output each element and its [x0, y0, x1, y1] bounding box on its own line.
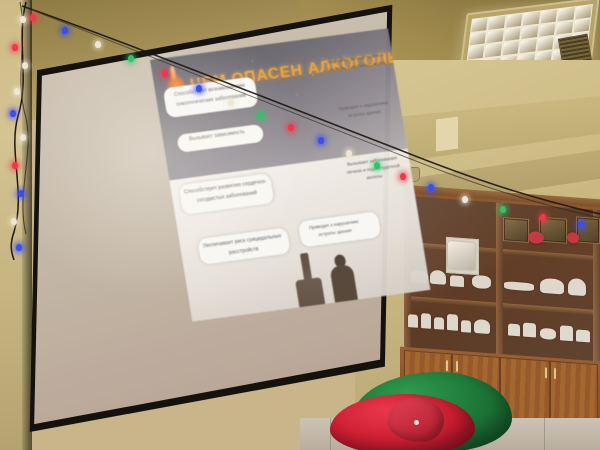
louver-cell — [487, 30, 504, 44]
string-light-bulb — [30, 14, 36, 21]
string-light-bulb — [10, 110, 16, 117]
louver-cell — [573, 19, 590, 33]
serving-bowl — [540, 278, 564, 295]
louver-cell — [471, 18, 488, 32]
string-light-bulb — [346, 150, 352, 157]
porcelain-cup — [450, 275, 464, 287]
string-light-bulb — [400, 173, 406, 180]
louver-cell — [523, 11, 540, 25]
string-light-bulb — [462, 196, 468, 203]
teapot — [430, 270, 446, 285]
string-light-bulb — [258, 112, 264, 119]
porcelain-cup — [434, 317, 444, 330]
louver-cell — [502, 41, 519, 55]
porcelain-cup — [447, 314, 458, 331]
string-light-bulb — [12, 44, 18, 51]
string-light-bulb — [162, 70, 168, 77]
louver-cell — [470, 32, 487, 46]
string-light-bulb — [374, 162, 380, 169]
string-light-bulb — [128, 55, 134, 62]
string-light-bulb — [22, 62, 28, 69]
string-light-bulb — [428, 184, 434, 191]
porcelain-cup — [421, 313, 431, 329]
string-light-bulb — [288, 124, 294, 131]
porcelain-cup — [408, 314, 418, 328]
louver-cell — [558, 7, 575, 21]
string-light-bulb — [18, 190, 24, 197]
louver-cell — [489, 16, 506, 30]
louver-cell — [506, 14, 523, 28]
porcelain-cup — [508, 323, 520, 336]
porcelain-cup — [461, 320, 471, 333]
bean-bag-tag — [414, 420, 419, 425]
red-ornament — [567, 232, 579, 244]
string-light-bulb — [62, 27, 68, 34]
porcelain-bowl — [540, 328, 556, 340]
string-light-bulb — [20, 134, 26, 141]
string-light-bulb — [95, 41, 101, 48]
louver-cell — [540, 9, 557, 23]
cabinet-mullion — [496, 203, 503, 364]
louver-cell — [504, 27, 521, 41]
teapot — [568, 278, 586, 296]
string-light-bulb — [500, 206, 506, 213]
porcelain-cup — [523, 323, 536, 338]
louver-cell — [520, 39, 537, 53]
string-light-bulb — [540, 214, 546, 221]
louver-cell — [539, 23, 556, 37]
pitcher — [560, 325, 573, 341]
string-light-bulb — [318, 137, 324, 144]
wall-panel — [436, 117, 458, 152]
china-display-cabinet[interactable] — [404, 193, 600, 370]
teapot — [474, 319, 490, 334]
string-light-bulb — [14, 88, 20, 95]
louver-cell — [468, 45, 485, 59]
string-light-bulb — [578, 221, 584, 228]
string-light-bulb — [11, 218, 17, 225]
print-image — [448, 241, 475, 270]
porcelain-bowl — [472, 275, 491, 289]
framed-picture — [503, 217, 529, 243]
louver-cell — [556, 21, 573, 35]
string-light-bulb — [12, 162, 18, 169]
louver-cell — [485, 43, 502, 57]
louver-cell — [537, 37, 554, 51]
string-light-bulb — [228, 99, 234, 106]
presentation-slide: ЧЕМ ОПАСЕН АЛКОГОЛЬ Способствует возникн… — [150, 28, 430, 321]
louver-cell — [575, 5, 592, 19]
room-photo: ЧЕМ ОПАСЕН АЛКОГОЛЬ Способствует возникн… — [0, 0, 600, 450]
string-light-bulb — [16, 244, 22, 251]
string-light-bulb — [196, 85, 202, 92]
porcelain-cup — [576, 329, 590, 342]
string-light-bulb — [20, 16, 26, 23]
louver-cell — [521, 25, 538, 39]
